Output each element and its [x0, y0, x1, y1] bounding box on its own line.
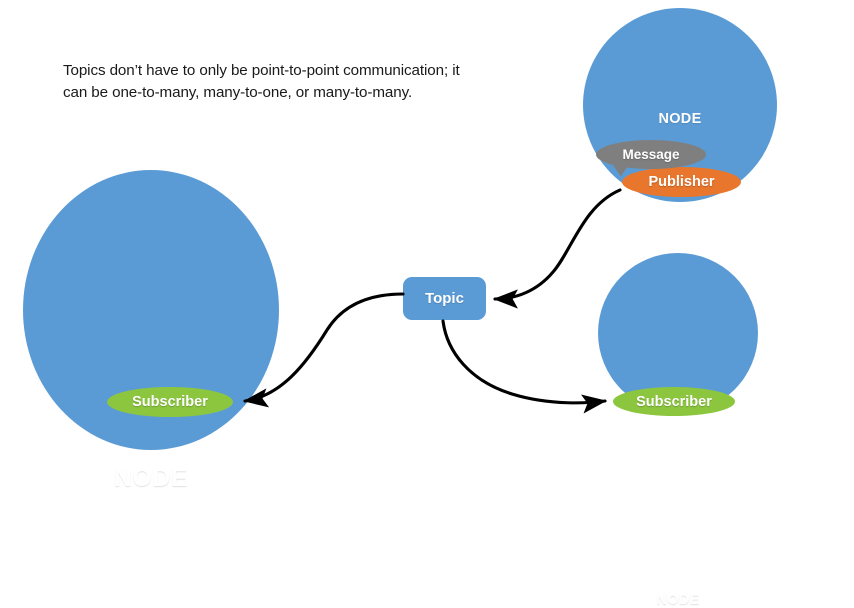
- arrow-publisher-to-topic: [495, 190, 620, 299]
- node-left-label: NODE: [23, 464, 279, 493]
- message-bubble[interactable]: Message: [596, 140, 706, 169]
- caption-text: Topics don’t have to only be point-to-po…: [63, 60, 483, 104]
- arrow-topic-to-bottom-subscriber: [443, 321, 605, 403]
- node-top-right-label: NODE: [583, 111, 777, 127]
- node-bottom-right-label: NODE: [598, 592, 758, 608]
- topic-box[interactable]: Topic: [403, 277, 486, 320]
- subscriber-pill-left[interactable]: Subscriber: [107, 387, 233, 417]
- diagram-canvas: Topics don’t have to only be point-to-po…: [0, 0, 854, 480]
- publisher-pill[interactable]: Publisher: [622, 167, 741, 197]
- subscriber-pill-bottom-right[interactable]: Subscriber: [613, 387, 735, 416]
